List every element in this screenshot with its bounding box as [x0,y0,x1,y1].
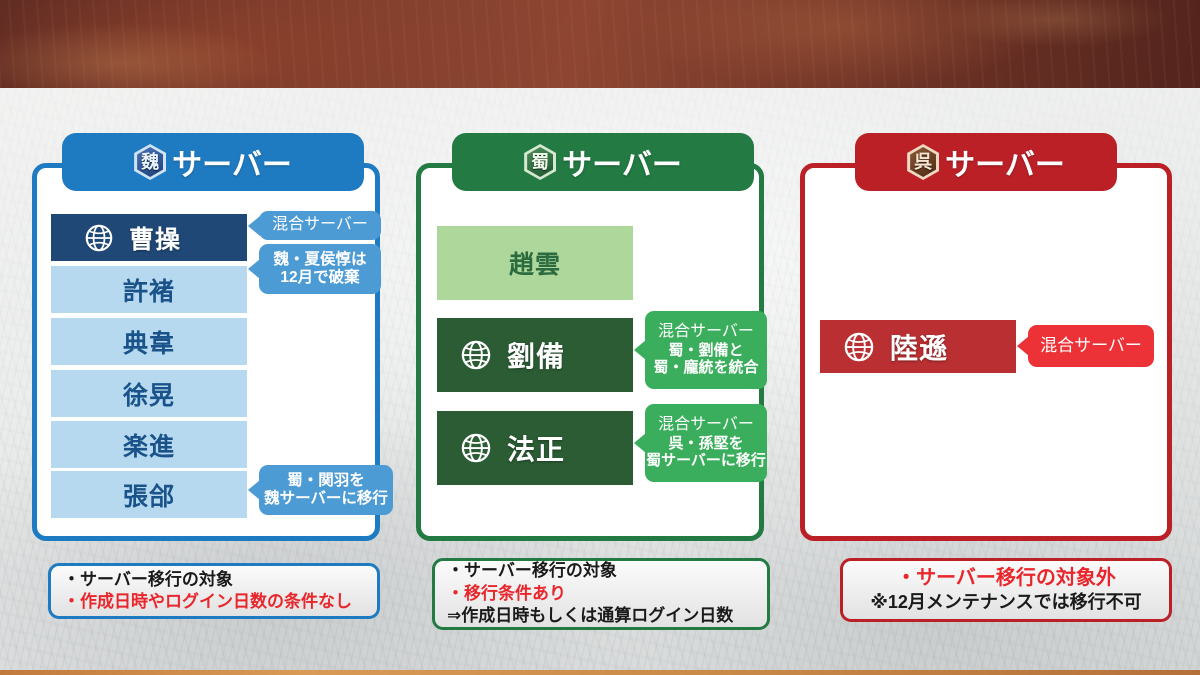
footer-shu-line-2: ⇒作成日時もしくは通算ログイン日数 [447,605,755,627]
panel-header-label-wu: サーバー [945,140,1065,184]
server-row-wei-2[interactable]: 典韋 [51,318,247,365]
server-name-shu-0: 趙雲 [509,245,561,281]
faction-badge-shu-icon: 蜀 [524,144,556,180]
callout-shu-1-line-1: 蜀サーバーに移行 [646,452,766,470]
faction-badge-wei-icon: 魏 [134,144,166,180]
callout-shu-0: 混合サーバー 蜀・劉備と 蜀・龐統を統合 [645,311,767,389]
callout-wu-0-title: 混合サーバー [1040,336,1142,356]
callout-wei-2: 蜀・関羽を 魏サーバーに移行 [259,465,393,515]
server-row-shu-1[interactable]: 劉備 [437,318,633,392]
server-name-shu-2: 法正 [507,428,565,468]
server-name-wu-0: 陸遜 [890,327,948,367]
callout-wei-1-line-1: 12月で破棄 [280,269,359,287]
server-row-wei-1[interactable]: 許褚 [51,266,247,313]
server-name-wei-5: 張郃 [123,477,175,513]
callout-shu-0-line-1: 蜀・龐統を統合 [654,359,759,377]
page-header [0,0,1200,88]
callout-wei-0: 混合サーバー [259,211,381,240]
faction-char-wei: 魏 [141,153,159,171]
globe-icon [461,433,491,463]
server-row-wei-3[interactable]: 徐晃 [51,370,247,417]
panel-header-label-wei: サーバー [172,140,292,184]
panel-header-shu: 蜀 サーバー [452,133,754,191]
footer-shu-line-0: ・サーバー移行の対象 [447,560,755,582]
callout-shu-0-title: 混合サーバー [658,323,754,342]
callout-wei-2-line-0: 蜀・関羽を [287,472,365,490]
footer-box-wei: ・サーバー移行の対象 ・作成日時やログイン日数の条件なし [48,563,380,619]
callout-shu-0-line-0: 蜀・劉備と [668,342,743,360]
panel-header-wei: 魏 サーバー [62,133,364,191]
footer-box-wu: ・サーバー移行の対象外 ※12月メンテナンスでは移行不可 [840,558,1172,622]
footer-wu-line-0: ・サーバー移行の対象外 [855,565,1157,591]
callout-wei-0-title: 混合サーバー [272,216,368,235]
server-row-wei-0[interactable]: 曹操 [51,214,247,261]
footer-shu-line-1: ・移行条件あり [447,583,755,605]
server-name-wei-0: 曹操 [129,220,181,256]
faction-badge-wu-icon: 呉 [907,144,939,180]
server-row-wei-4[interactable]: 楽進 [51,421,247,468]
server-name-wei-4: 楽進 [123,427,175,463]
server-name-wei-1: 許褚 [123,272,175,308]
server-name-wei-2: 典韋 [123,324,175,360]
callout-wei-2-line-1: 魏サーバーに移行 [264,490,388,508]
panel-header-label-shu: サーバー [562,140,682,184]
callout-shu-1: 混合サーバー 呉・孫堅を 蜀サーバーに移行 [645,404,767,482]
footer-wei-line-1: ・作成日時やログイン日数の条件なし [63,591,365,613]
faction-char-shu: 蜀 [531,153,549,171]
header-accent-line [0,670,1200,675]
faction-char-wu: 呉 [914,153,932,171]
server-row-wei-5[interactable]: 張郃 [51,471,247,518]
globe-icon [461,340,491,370]
server-name-shu-1: 劉備 [507,335,565,375]
globe-icon [844,332,874,362]
callout-shu-1-line-0: 呉・孫堅を [668,435,743,453]
callout-shu-1-title: 混合サーバー [658,416,754,435]
callout-wei-1-line-0: 魏・夏侯惇は [273,251,366,269]
header-swirl-decoration [0,0,1200,88]
callout-wu-0: 混合サーバー [1028,325,1154,367]
footer-wei-line-0: ・サーバー移行の対象 [63,569,365,591]
globe-icon [85,224,113,252]
callout-wei-1: 魏・夏侯惇は 12月で破棄 [259,244,381,294]
server-row-shu-2[interactable]: 法正 [437,411,633,485]
panel-header-wu: 呉 サーバー [855,133,1117,191]
server-name-wei-3: 徐晃 [123,376,175,412]
server-row-shu-0[interactable]: 趙雲 [437,226,633,300]
server-row-wu-0[interactable]: 陸遜 [820,320,1016,373]
footer-box-shu: ・サーバー移行の対象 ・移行条件あり ⇒作成日時もしくは通算ログイン日数 [432,558,770,630]
footer-wu-line-1: ※12月メンテナンスでは移行不可 [855,591,1157,615]
